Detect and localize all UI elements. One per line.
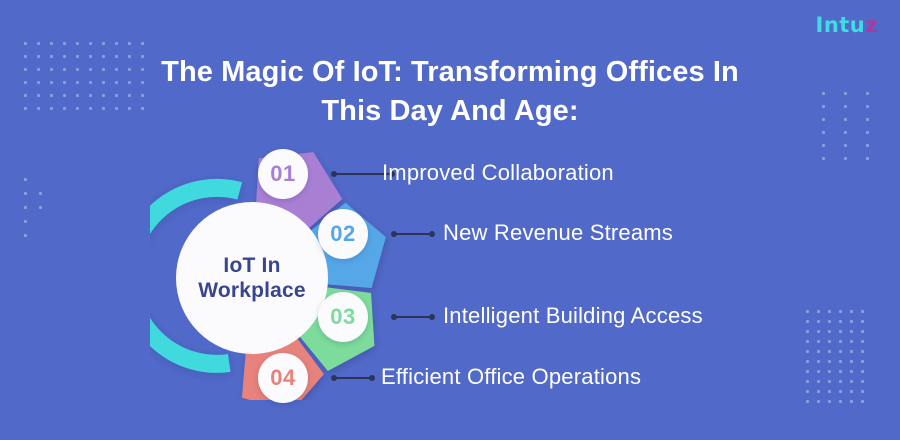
connector-dot-end [369,375,375,381]
connector-03 [391,312,435,321]
connector-line [395,233,431,235]
infographic-canvas: Intuz The Magic Of IoT: Transforming Off… [0,0,900,440]
logo-text-accent: z [865,13,878,37]
connector-line [395,316,431,318]
connector-dot-end [429,314,435,320]
page-title: The Magic Of IoT: Transforming Offices I… [0,53,900,130]
item-label-01: Improved Collaboration [382,160,614,186]
connector-line [335,377,371,379]
donut-center-disc [176,202,328,354]
intuz-logo: Intuz [816,14,879,36]
item-label-02: New Revenue Streams [443,220,673,246]
decorative-dots-right-lower [806,310,872,410]
connector-dot-end [429,231,435,237]
decorative-dots-middle-left [24,178,69,248]
connector-02 [391,229,435,238]
item-label-03: Intelligent Building Access [443,303,703,329]
logo-text-main: Intu [816,13,866,37]
badge-01[interactable]: 01 [258,149,308,199]
connector-04 [331,373,375,382]
badge-02[interactable]: 02 [318,209,368,259]
item-label-04: Efficient Office Operations [381,364,641,390]
badge-04[interactable]: 04 [258,353,308,403]
badge-03[interactable]: 03 [318,292,368,342]
